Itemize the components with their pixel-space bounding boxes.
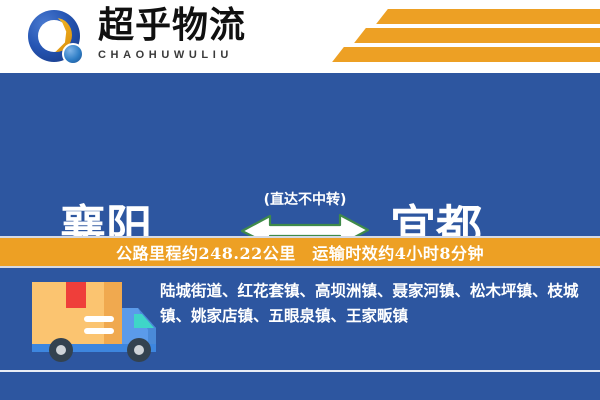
header-bar: 超乎物流 CHAOHUWULIU [0,0,600,73]
delivery-truck-icon [28,274,168,366]
speed-stripes-decoration [320,6,600,68]
stripe-3 [332,47,600,62]
brand-block: 超乎物流 CHAOHUWULIU [98,6,246,62]
brand-name-cn: 超乎物流 [98,6,246,46]
stripe-1 [376,9,600,24]
distance-duration-bar: 公路里程约248.22公里 运输时效约4小时8分钟 [0,236,600,268]
company-logo-icon [26,10,92,66]
distance-duration-text: 公路里程约248.22公里 运输时效约4小时8分钟 [116,240,484,264]
covered-towns-text: 陆城街道、红花套镇、高坝洲镇、聂家河镇、松木坪镇、枝城镇、姚家店镇、五眼泉镇、王… [160,278,585,328]
logistics-route-poster: 超乎物流 CHAOHUWULIU 襄阳 (直达不中转) 【往返运输】 宜都 公路… [0,0,600,400]
coverage-section: 陆城街道、红花套镇、高坝洲镇、聂家河镇、松木坪镇、枝城镇、姚家店镇、五眼泉镇、王… [0,268,600,400]
route-section: 襄阳 (直达不中转) 【往返运输】 宜都 [0,73,600,232]
road-line [0,370,600,372]
logo-dot-icon [62,43,84,65]
direct-service-label: (直达不中转) [240,191,370,209]
brand-name-en: CHAOHUWULIU [98,48,246,62]
stripe-2 [354,28,600,43]
